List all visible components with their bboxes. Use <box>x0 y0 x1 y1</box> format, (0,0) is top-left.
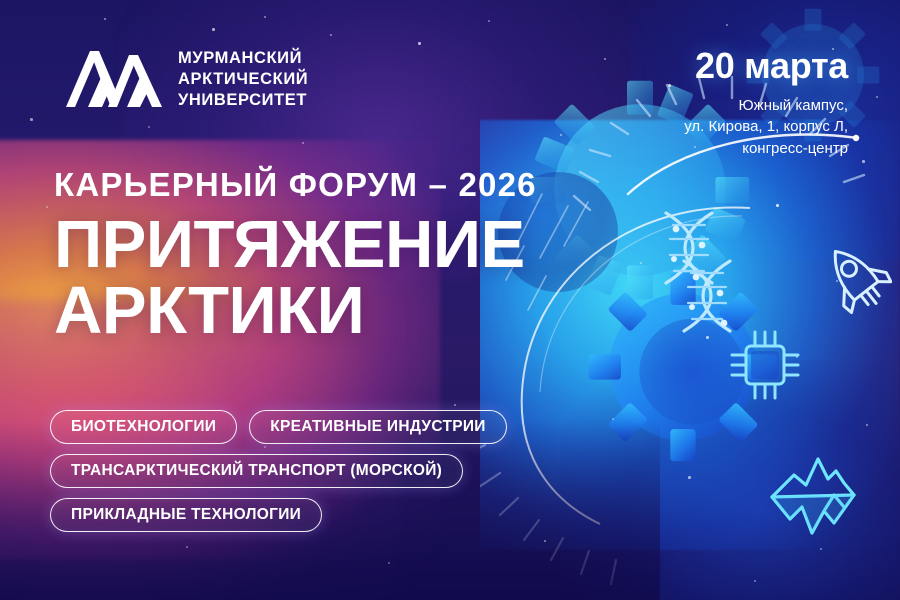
event-venue: Южный кампус, ул. Кирова, 1, корпус Л, к… <box>684 95 848 159</box>
track-pill-transport[interactable]: ТРАНСАРКТИЧЕСКИЙ ТРАНСПОРТ (МОРСКОЙ) <box>50 454 463 488</box>
event-date: 20 марта <box>684 48 848 84</box>
event-date-venue: 20 марта Южный кампус, ул. Кирова, 1, ко… <box>684 48 848 159</box>
track-pill-applied-tech[interactable]: ПРИКЛАДНЫЕ ТЕХНОЛОГИИ <box>50 498 322 532</box>
track-pill-biotech[interactable]: БИОТЕХНОЛОГИИ <box>50 410 237 444</box>
page-title: ПРИТЯЖЕНИЕ АРКТИКИ <box>54 212 525 343</box>
title-line1: ПРИТЯЖЕНИЕ <box>54 212 525 278</box>
venue-line3: конгресс-центр <box>684 138 848 159</box>
venue-line2: ул. Кирова, 1, корпус Л, <box>684 116 848 137</box>
track-row: ПРИКЛАДНЫЕ ТЕХНОЛОГИИ <box>50 498 630 532</box>
university-name-line1: МУРМАНСКИЙ <box>178 48 308 69</box>
track-row: ТРАНСАРКТИЧЕСКИЙ ТРАНСПОРТ (МОРСКОЙ) <box>50 454 630 488</box>
university-name: МУРМАНСКИЙ АРКТИЧЕСКИЙ УНИВЕРСИТЕТ <box>178 48 308 111</box>
track-row: БИОТЕХНОЛОГИИ КРЕАТИВНЫЕ ИНДУСТРИИ <box>50 410 630 444</box>
university-logo[interactable]: МУРМАНСКИЙ АРКТИЧЕСКИЙ УНИВЕРСИТЕТ <box>66 48 308 111</box>
title-line2: АРКТИКИ <box>54 278 525 344</box>
event-kicker: КАРЬЕРНЫЙ ФОРУМ – 2026 <box>54 166 537 204</box>
track-pill-creative[interactable]: КРЕАТИВНЫЕ ИНДУСТРИИ <box>249 410 506 444</box>
university-name-line3: УНИВЕРСИТЕТ <box>178 90 308 111</box>
university-name-line2: АРКТИЧЕСКИЙ <box>178 69 308 90</box>
track-list: БИОТЕХНОЛОГИИ КРЕАТИВНЫЕ ИНДУСТРИИ ТРАНС… <box>50 410 630 542</box>
venue-line1: Южный кампус, <box>684 95 848 116</box>
event-poster: МУРМАНСКИЙ АРКТИЧЕСКИЙ УНИВЕРСИТЕТ 20 ма… <box>0 0 900 600</box>
mau-mountain-monogram-icon <box>66 49 162 111</box>
